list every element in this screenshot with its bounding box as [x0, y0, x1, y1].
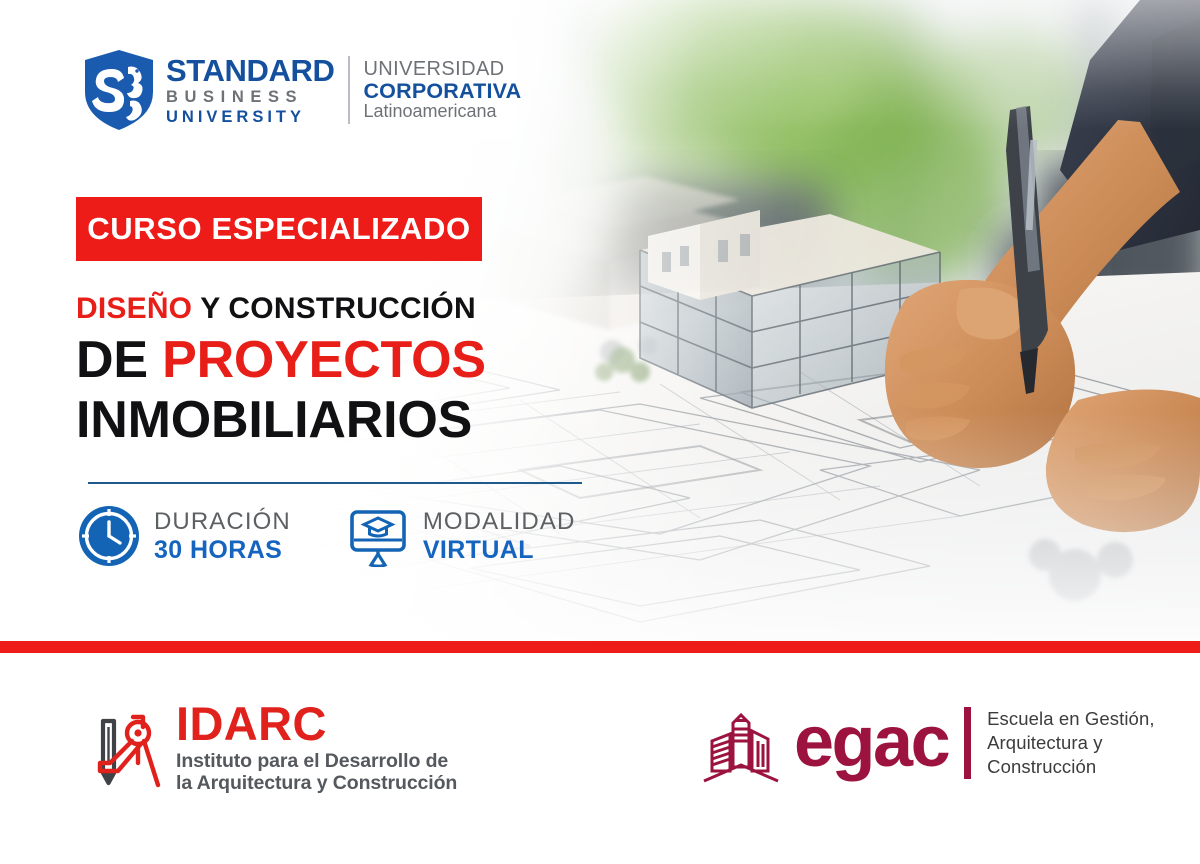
idarc-wordmark: IDARC Instituto para el Desarrollo de la…: [176, 701, 457, 794]
modality-text: MODALIDAD VIRTUAL: [423, 509, 576, 564]
egac-tagline-line-2: Arquitectura y: [987, 731, 1154, 755]
sbu-line-university: UNIVERSITY: [166, 109, 334, 126]
detail-duration: DURACIÓN 30 HORAS: [78, 505, 291, 567]
title-word-de: DE: [76, 331, 162, 389]
duration-text: DURACIÓN 30 HORAS: [154, 509, 291, 564]
idarc-subtitle-line-2: la Arquitectura y Construcción: [176, 772, 457, 794]
course-type-badge: CURSO ESPECIALIZADO: [76, 197, 482, 261]
egac-wordmark: egac: [794, 713, 948, 772]
title-line-3: INMOBILIARIOS: [76, 391, 716, 449]
compass-pencil-icon: [88, 705, 166, 791]
title-line-1: DISEÑO Y CONSTRUCCIÓN: [76, 292, 716, 326]
partner-wordmark: UNIVERSIDAD CORPORATIVA Latinoamericana: [363, 59, 521, 121]
shield-lion-icon: [82, 49, 156, 131]
course-details-row: DURACIÓN 30 HORAS MODALIDAD VIRTUAL: [78, 505, 575, 567]
modality-value: VIRTUAL: [423, 537, 576, 564]
logo-divider: [348, 56, 350, 124]
egac-tagline-line-1: Escuela en Gestión,: [987, 707, 1154, 731]
sbu-line-business: BUSINESS: [166, 89, 334, 106]
idarc-logo: IDARC Instituto para el Desarrollo de la…: [88, 701, 457, 794]
idarc-title: IDARC: [176, 701, 457, 747]
modality-label: MODALIDAD: [423, 509, 576, 534]
title-word-proyectos: PROYECTOS: [162, 331, 486, 389]
title-line-1-rest: Y CONSTRUCCIÓN: [192, 292, 476, 325]
title-divider: [88, 482, 582, 484]
city-buildings-icon: [700, 701, 782, 785]
footer: IDARC Instituto para el Desarrollo de la…: [0, 653, 1200, 864]
duration-label: DURACIÓN: [154, 509, 291, 534]
partner-line-universidad: UNIVERSIDAD: [363, 59, 521, 80]
duration-value: 30 HORAS: [154, 537, 291, 564]
red-separator-band: [0, 641, 1200, 653]
detail-modality: MODALIDAD VIRTUAL: [347, 505, 576, 567]
idarc-subtitle: Instituto para el Desarrollo de la Arqui…: [176, 750, 457, 794]
course-flyer: STANDARD BUSINESS UNIVERSITY UNIVERSIDAD…: [0, 0, 1200, 864]
sbu-line-standard: STANDARD: [166, 55, 334, 86]
partner-line-latinoamericana: Latinoamericana: [363, 102, 521, 121]
idarc-subtitle-line-1: Instituto para el Desarrollo de: [176, 750, 457, 772]
monitor-graduation-cap-icon: [347, 505, 409, 567]
clock-icon: [78, 505, 140, 567]
header-logo-plate: STANDARD BUSINESS UNIVERSITY UNIVERSIDAD…: [72, 42, 516, 138]
egac-tagline-line-3: Construcción: [987, 755, 1154, 779]
sbu-wordmark: STANDARD BUSINESS UNIVERSITY: [166, 55, 334, 125]
title-word-diseno: DISEÑO: [76, 292, 192, 325]
course-title: DISEÑO Y CONSTRUCCIÓN DE PROYECTOS INMOB…: [76, 292, 716, 449]
badge-label: CURSO ESPECIALIZADO: [87, 211, 470, 247]
egac-logo: egac Escuela en Gestión, Arquitectura y …: [700, 701, 1155, 785]
egac-divider: [964, 707, 971, 779]
partner-line-corporativa: CORPORATIVA: [363, 80, 521, 102]
egac-tagline: Escuela en Gestión, Arquitectura y Const…: [987, 707, 1154, 778]
title-line-2: DE PROYECTOS: [76, 331, 716, 389]
